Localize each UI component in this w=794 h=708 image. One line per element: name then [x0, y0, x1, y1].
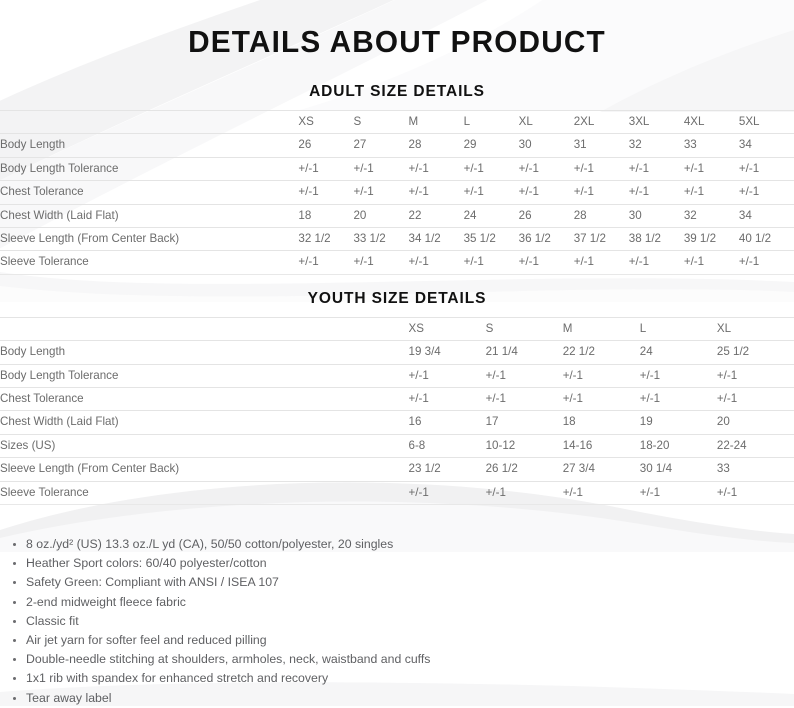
youth-measurement-cell: +/-1 — [640, 388, 717, 411]
adult-measurement-cell: 37 1/2 — [574, 228, 629, 251]
feature-item: Safety Green: Compliant with ANSI / ISEA… — [0, 573, 794, 592]
adult-measurement-cell: +/-1 — [464, 181, 519, 204]
youth-measurement-cell: 22 1/2 — [563, 341, 640, 364]
adult-column-header: 4XL — [684, 111, 739, 134]
adult-column-header: 3XL — [629, 111, 684, 134]
feature-text: Classic fit — [26, 614, 79, 628]
adult-measurement-cell: 30 — [629, 204, 684, 227]
adult-measurement-cell: +/-1 — [629, 157, 684, 180]
feature-item: Classic fit — [0, 612, 794, 631]
adult-measurement-cell: 18 — [298, 204, 353, 227]
adult-row-label: Body Length Tolerance — [0, 157, 298, 180]
youth-row-label: Body Length Tolerance — [0, 364, 409, 387]
adult-measurement-cell: +/-1 — [629, 251, 684, 274]
adult-measurement-cell: 34 — [739, 134, 794, 157]
adult-column-header: S — [353, 111, 408, 134]
adult-measurement-cell: 28 — [574, 204, 629, 227]
adult-measurement-cell: +/-1 — [684, 157, 739, 180]
youth-column-header: XL — [717, 317, 794, 340]
youth-measurement-cell: 14-16 — [563, 434, 640, 457]
youth-measurement-cell: +/-1 — [717, 481, 794, 504]
feature-text: Air jet yarn for softer feel and reduced… — [26, 633, 267, 647]
youth-row-label: Body Length — [0, 341, 409, 364]
youth-measurement-cell: 16 — [409, 411, 486, 434]
youth-row-label: Sleeve Length (From Center Back) — [0, 458, 409, 481]
youth-measurement-cell: 17 — [486, 411, 563, 434]
adult-column-header: 5XL — [739, 111, 794, 134]
youth-size-details-title: YOUTH SIZE DETAILS — [0, 290, 794, 308]
youth-measurement-cell: +/-1 — [409, 481, 486, 504]
adult-measurement-cell: +/-1 — [574, 251, 629, 274]
adult-measurement-cell: +/-1 — [409, 157, 464, 180]
youth-measurement-cell: 24 — [640, 341, 717, 364]
adult-row-label: Sleeve Length (From Center Back) — [0, 228, 298, 251]
youth-table-row: Sleeve Length (From Center Back)23 1/226… — [0, 458, 794, 481]
bullet-icon — [13, 620, 16, 623]
adult-table-row: Chest Tolerance+/-1+/-1+/-1+/-1+/-1+/-1+… — [0, 181, 794, 204]
youth-column-header: L — [640, 317, 717, 340]
feature-item: Heather Sport colors: 60/40 polyester/co… — [0, 554, 794, 573]
feature-text: Tear away label — [26, 691, 111, 705]
adult-section-header: ADULT SIZE DETAILS — [0, 60, 794, 110]
adult-measurement-cell: 32 — [629, 134, 684, 157]
youth-measurement-cell: 18-20 — [640, 434, 717, 457]
adult-table-row: Body Length Tolerance+/-1+/-1+/-1+/-1+/-… — [0, 157, 794, 180]
adult-measurement-cell: +/-1 — [298, 181, 353, 204]
feature-item: 1x1 rib with spandex for enhanced stretc… — [0, 669, 794, 688]
adult-measurement-cell: +/-1 — [519, 157, 574, 180]
adult-measurement-cell: +/-1 — [353, 181, 408, 204]
youth-measurement-cell: 19 3/4 — [409, 341, 486, 364]
youth-row-label: Sizes (US) — [0, 434, 409, 457]
adult-column-header: M — [409, 111, 464, 134]
adult-measurement-cell: +/-1 — [739, 157, 794, 180]
adult-measurement-cell: +/-1 — [353, 251, 408, 274]
adult-measurement-cell: 40 1/2 — [739, 228, 794, 251]
youth-column-header: XS — [409, 317, 486, 340]
bullet-icon — [13, 658, 16, 661]
youth-measurement-cell: 33 — [717, 458, 794, 481]
feature-item: 8 oz./yd² (US) 13.3 oz./L yd (CA), 50/50… — [0, 535, 794, 554]
bullet-icon — [13, 639, 16, 642]
adult-measurement-cell: 35 1/2 — [464, 228, 519, 251]
youth-measurement-cell: +/-1 — [563, 481, 640, 504]
adult-column-header: L — [464, 111, 519, 134]
page-title: DETAILS ABOUT PRODUCT — [16, 0, 778, 60]
adult-measurement-cell: 26 — [298, 134, 353, 157]
youth-table-header: XSSMLXL — [0, 317, 794, 340]
adult-measurement-cell: +/-1 — [409, 181, 464, 204]
youth-measurement-cell: 19 — [640, 411, 717, 434]
bullet-icon — [13, 601, 16, 604]
youth-table-row: Body Length19 3/421 1/422 1/22425 1/2 — [0, 341, 794, 364]
adult-measurement-cell: 26 — [519, 204, 574, 227]
product-features-list: 8 oz./yd² (US) 13.3 oz./L yd (CA), 50/50… — [0, 505, 794, 708]
youth-measurement-cell: +/-1 — [409, 388, 486, 411]
feature-text: 2-end midweight fleece fabric — [26, 595, 186, 609]
adult-size-table: XSSMLXL2XL3XL4XL5XL Body Length262728293… — [0, 110, 794, 275]
youth-row-label: Sleeve Tolerance — [0, 481, 409, 504]
adult-measurement-cell: 33 1/2 — [353, 228, 408, 251]
youth-measurement-cell: +/-1 — [486, 481, 563, 504]
adult-measurement-cell: 34 — [739, 204, 794, 227]
youth-table-row: Sleeve Tolerance+/-1+/-1+/-1+/-1+/-1 — [0, 481, 794, 504]
youth-measurement-cell: +/-1 — [486, 364, 563, 387]
youth-column-header: S — [486, 317, 563, 340]
adult-measurement-cell: +/-1 — [574, 157, 629, 180]
adult-measurement-cell: 36 1/2 — [519, 228, 574, 251]
youth-section-header: YOUTH SIZE DETAILS — [0, 275, 794, 317]
youth-measurement-cell: 25 1/2 — [717, 341, 794, 364]
adult-measurement-cell: 22 — [409, 204, 464, 227]
youth-measurement-cell: +/-1 — [717, 388, 794, 411]
youth-measurement-cell: 30 1/4 — [640, 458, 717, 481]
adult-measurement-cell: +/-1 — [298, 251, 353, 274]
youth-table-row: Sizes (US)6-810-1214-1618-2022-24 — [0, 434, 794, 457]
adult-measurement-cell: +/-1 — [739, 251, 794, 274]
adult-measurement-cell: 33 — [684, 134, 739, 157]
adult-measurement-cell: 24 — [464, 204, 519, 227]
adult-table-body: Body Length262728293031323334Body Length… — [0, 134, 794, 274]
adult-header-row: XSSMLXL2XL3XL4XL5XL — [0, 111, 794, 134]
adult-measurement-cell: 39 1/2 — [684, 228, 739, 251]
feature-item: Air jet yarn for softer feel and reduced… — [0, 631, 794, 650]
youth-table-row: Chest Tolerance+/-1+/-1+/-1+/-1+/-1 — [0, 388, 794, 411]
youth-size-table: XSSMLXL Body Length19 3/421 1/422 1/2242… — [0, 317, 794, 505]
adult-measurement-cell: 32 — [684, 204, 739, 227]
youth-measurement-cell: 22-24 — [717, 434, 794, 457]
adult-row-label: Body Length — [0, 134, 298, 157]
adult-measurement-cell: 30 — [519, 134, 574, 157]
feature-text: Safety Green: Compliant with ANSI / ISEA… — [26, 575, 279, 589]
product-details-page: DETAILS ABOUT PRODUCT ADULT SIZE DETAILS… — [0, 0, 794, 706]
bullet-icon — [13, 697, 16, 700]
youth-measurement-cell: 20 — [717, 411, 794, 434]
adult-measurement-cell: +/-1 — [574, 181, 629, 204]
youth-table-body: Body Length19 3/421 1/422 1/22425 1/2Bod… — [0, 341, 794, 505]
bullet-icon — [13, 677, 16, 680]
youth-measurement-cell: 27 3/4 — [563, 458, 640, 481]
adult-measurement-cell: +/-1 — [298, 157, 353, 180]
bullet-icon — [13, 543, 16, 546]
adult-measurement-cell: +/-1 — [409, 251, 464, 274]
adult-table-row: Sleeve Tolerance+/-1+/-1+/-1+/-1+/-1+/-1… — [0, 251, 794, 274]
adult-measurement-cell: 31 — [574, 134, 629, 157]
youth-measurement-cell: +/-1 — [563, 388, 640, 411]
adult-column-header: 2XL — [574, 111, 629, 134]
youth-measurement-cell: +/-1 — [717, 364, 794, 387]
adult-column-header: XS — [298, 111, 353, 134]
youth-measurement-cell: +/-1 — [409, 364, 486, 387]
adult-measurement-cell: 32 1/2 — [298, 228, 353, 251]
adult-measurement-cell: 27 — [353, 134, 408, 157]
youth-table-row: Chest Width (Laid Flat)1617181920 — [0, 411, 794, 434]
adult-row-label: Sleeve Tolerance — [0, 251, 298, 274]
adult-measurement-cell: 38 1/2 — [629, 228, 684, 251]
youth-measurement-cell: +/-1 — [486, 388, 563, 411]
adult-measurement-cell: +/-1 — [629, 181, 684, 204]
youth-corner-cell — [0, 317, 409, 340]
youth-column-header: M — [563, 317, 640, 340]
adult-measurement-cell: +/-1 — [684, 181, 739, 204]
youth-measurement-cell: +/-1 — [563, 364, 640, 387]
adult-measurement-cell: +/-1 — [739, 181, 794, 204]
bullet-icon — [13, 562, 16, 565]
adult-size-details-title: ADULT SIZE DETAILS — [0, 83, 794, 101]
youth-row-label: Chest Tolerance — [0, 388, 409, 411]
youth-row-label: Chest Width (Laid Flat) — [0, 411, 409, 434]
youth-measurement-cell: 23 1/2 — [409, 458, 486, 481]
feature-item: 2-end midweight fleece fabric — [0, 593, 794, 612]
feature-text: Heather Sport colors: 60/40 polyester/co… — [26, 556, 267, 570]
adult-column-header: XL — [519, 111, 574, 134]
adult-measurement-cell: +/-1 — [353, 157, 408, 180]
youth-header-row: XSSMLXL — [0, 317, 794, 340]
adult-measurement-cell: +/-1 — [464, 251, 519, 274]
adult-measurement-cell: 20 — [353, 204, 408, 227]
adult-measurement-cell: 29 — [464, 134, 519, 157]
adult-measurement-cell: +/-1 — [464, 157, 519, 180]
youth-measurement-cell: +/-1 — [640, 481, 717, 504]
adult-table-row: Chest Width (Laid Flat)18202224262830323… — [0, 204, 794, 227]
adult-table-header: XSSMLXL2XL3XL4XL5XL — [0, 111, 794, 134]
bullet-icon — [13, 581, 16, 584]
adult-measurement-cell: +/-1 — [519, 181, 574, 204]
adult-measurement-cell: 34 1/2 — [409, 228, 464, 251]
feature-item: Double-needle stitching at shoulders, ar… — [0, 650, 794, 669]
feature-text: 8 oz./yd² (US) 13.3 oz./L yd (CA), 50/50… — [26, 537, 393, 551]
adult-measurement-cell: +/-1 — [519, 251, 574, 274]
youth-measurement-cell: 6-8 — [409, 434, 486, 457]
adult-corner-cell — [0, 111, 298, 134]
youth-measurement-cell: +/-1 — [640, 364, 717, 387]
youth-measurement-cell: 10-12 — [486, 434, 563, 457]
adult-measurement-cell: +/-1 — [684, 251, 739, 274]
youth-measurement-cell: 26 1/2 — [486, 458, 563, 481]
feature-text: Double-needle stitching at shoulders, ar… — [26, 652, 430, 666]
youth-measurement-cell: 21 1/4 — [486, 341, 563, 364]
adult-row-label: Chest Width (Laid Flat) — [0, 204, 298, 227]
feature-item: Tear away label — [0, 689, 794, 708]
youth-table-row: Body Length Tolerance+/-1+/-1+/-1+/-1+/-… — [0, 364, 794, 387]
adult-table-row: Sleeve Length (From Center Back)32 1/233… — [0, 228, 794, 251]
youth-measurement-cell: 18 — [563, 411, 640, 434]
feature-text: 1x1 rib with spandex for enhanced stretc… — [26, 671, 328, 685]
adult-table-row: Body Length262728293031323334 — [0, 134, 794, 157]
adult-measurement-cell: 28 — [409, 134, 464, 157]
adult-row-label: Chest Tolerance — [0, 181, 298, 204]
